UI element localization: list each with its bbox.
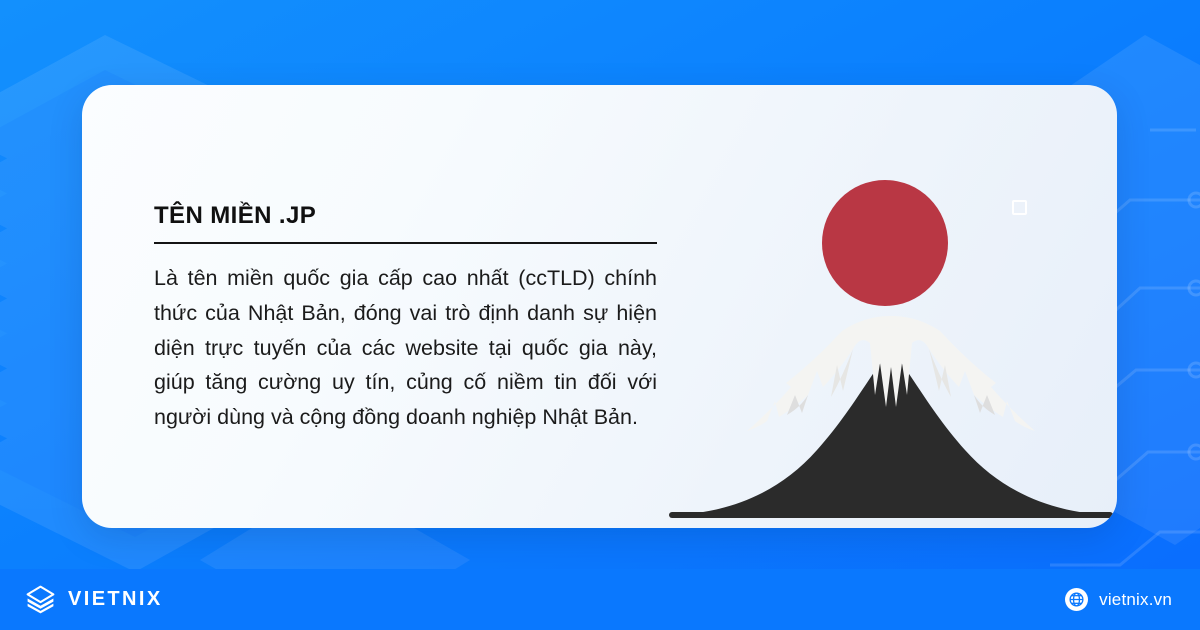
rising-sun-circle <box>822 180 948 306</box>
globe-icon <box>1065 588 1088 611</box>
small-square-marker <box>1012 200 1027 215</box>
text-block: TÊN MIỀN .JP Là tên miền quốc gia cấp ca… <box>154 203 657 434</box>
body-paragraph: Là tên miền quốc gia cấp cao nhất (ccTLD… <box>154 261 657 434</box>
stacked-layers-icon <box>24 583 57 616</box>
footer-bar: VIETNIX vietnix.vn <box>0 569 1200 630</box>
site-url-label: vietnix.vn <box>1099 590 1172 610</box>
title-underline-rule <box>154 242 657 244</box>
site-url-group[interactable]: vietnix.vn <box>1065 588 1172 611</box>
content-card: TÊN MIỀN .JP Là tên miền quốc gia cấp ca… <box>82 85 1117 528</box>
brand-name: VIETNIX <box>68 588 163 611</box>
mountain-body <box>672 350 1110 515</box>
mount-fuji-illustration <box>667 95 1117 520</box>
brand-logo[interactable]: VIETNIX <box>24 583 163 616</box>
page-title: TÊN MIỀN .JP <box>154 203 657 242</box>
ground-line <box>669 512 1113 518</box>
